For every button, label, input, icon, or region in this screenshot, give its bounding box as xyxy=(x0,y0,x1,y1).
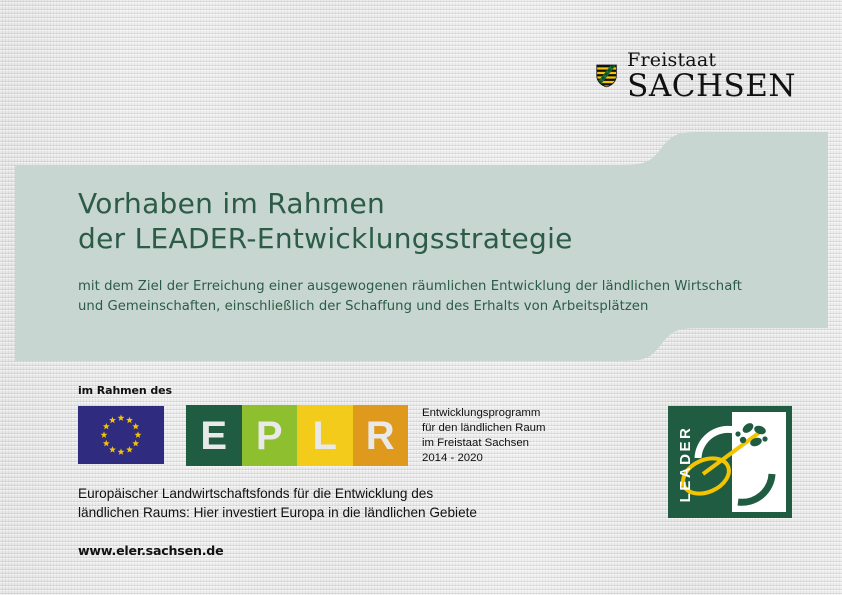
eplr-caption-line-4: 2014 - 2020 xyxy=(422,451,602,466)
eplr-letter-p: P xyxy=(256,416,283,456)
eplr-caption-line-2: für den ländlichen Raum xyxy=(422,421,602,436)
title-line-2: der LEADER-Entwicklungsstrategie xyxy=(78,221,778,256)
freistaat-label: Freistaat xyxy=(627,51,796,70)
im-rahmen-des-label: im Rahmen des xyxy=(78,384,172,397)
sachsen-label: SACHSEN xyxy=(627,71,796,102)
european-union-flag xyxy=(78,406,164,464)
website-url[interactable]: www.eler.sachsen.de xyxy=(78,543,223,558)
eplr-cell-l: L xyxy=(297,405,353,466)
eplr-letter-e: E xyxy=(200,416,227,456)
page-subtitle: mit dem Ziel der Erreichung einer ausgew… xyxy=(78,277,788,316)
title-line-1: Vorhaben im Rahmen xyxy=(78,186,778,221)
eplr-logo: E P L R xyxy=(186,405,408,466)
eplr-cell-e: E xyxy=(186,405,242,466)
funding-line-1: Europäischer Landwirtschaftsfonds für di… xyxy=(78,484,598,503)
saxony-coat-of-arms: Freistaat SACHSEN xyxy=(596,44,796,108)
eu-stars-icon xyxy=(78,406,164,464)
saxony-shield-icon xyxy=(596,45,617,107)
saxony-wordmark: Freistaat SACHSEN xyxy=(627,51,796,102)
eplr-cell-r: R xyxy=(353,405,409,466)
subtitle-line-1: mit dem Ziel der Erreichung einer ausgew… xyxy=(78,277,788,297)
eplr-cell-p: P xyxy=(242,405,298,466)
eplr-letter-l: L xyxy=(313,416,337,456)
leader-wordmark: LEADER xyxy=(677,426,694,503)
funding-line-2: ländlichen Raums: Hier investiert Europa… xyxy=(78,503,598,522)
eplr-letter-r: R xyxy=(366,416,395,456)
eplr-caption-line-3: im Freistaat Sachsen xyxy=(422,436,602,451)
eplr-caption-line-1: Entwicklungsprogramm xyxy=(422,406,602,421)
leader-logo: LEADER xyxy=(668,406,792,518)
eplr-caption: Entwicklungsprogramm für den ländlichen … xyxy=(422,406,602,466)
page-title: Vorhaben im Rahmen der LEADER-Entwicklun… xyxy=(78,186,778,257)
subtitle-line-2: und Gemeinschaften, einschließlich der S… xyxy=(78,297,788,317)
funding-note: Europäischer Landwirtschaftsfonds für di… xyxy=(78,484,598,523)
